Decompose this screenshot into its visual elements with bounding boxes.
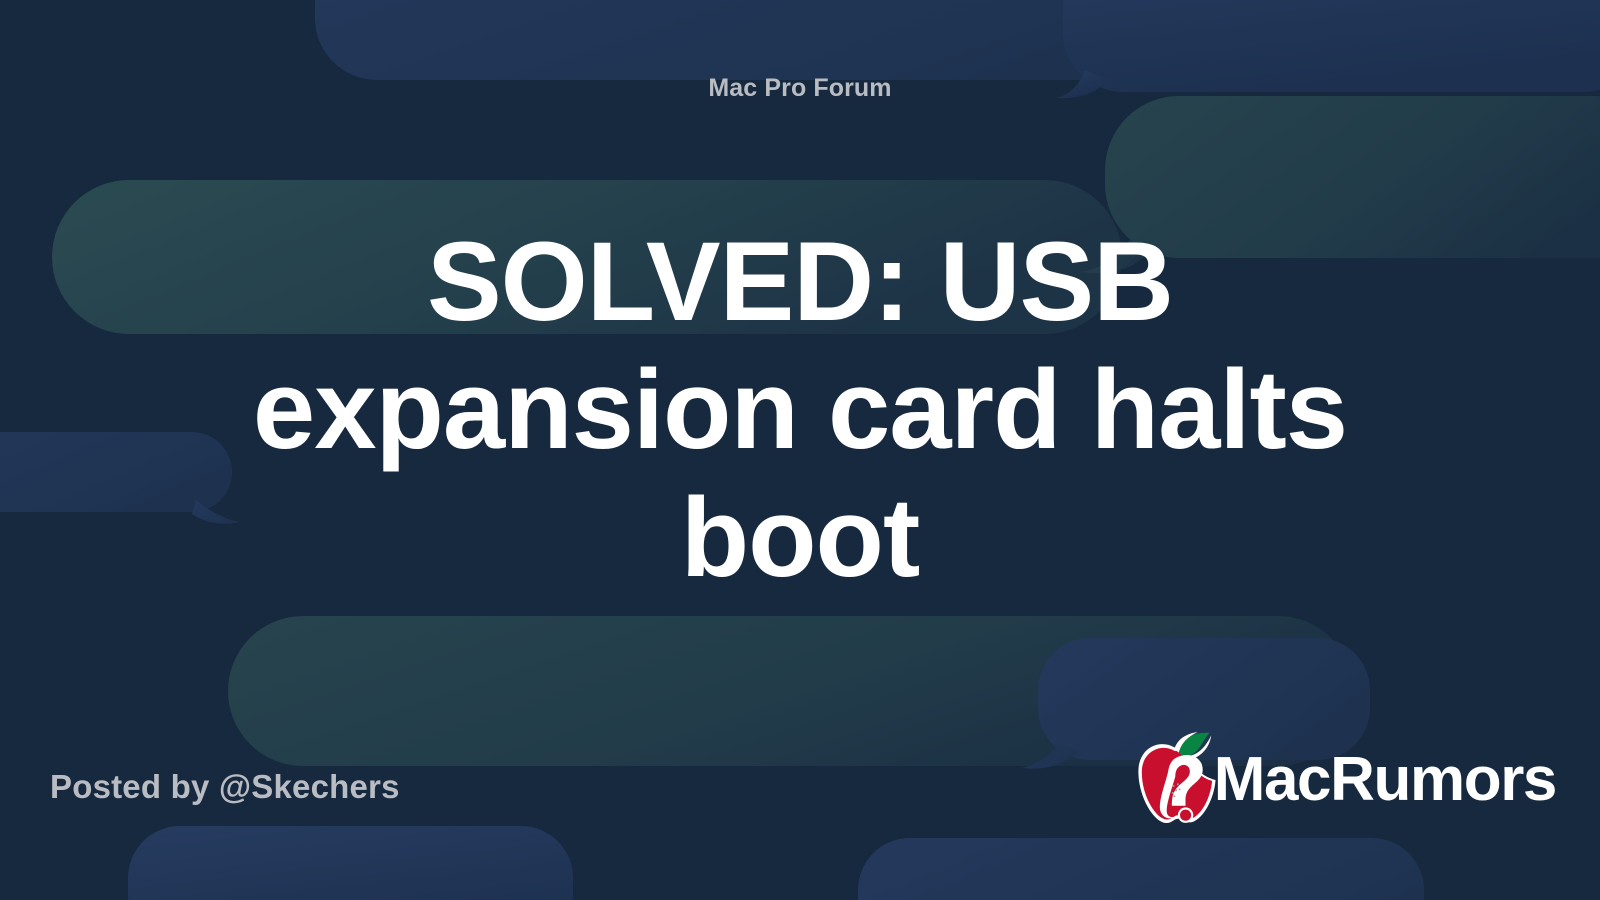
page-title: SOLVED: USB expansion card halts boot	[140, 218, 1460, 602]
forum-name: Mac Pro Forum	[0, 74, 1600, 103]
posted-by-label: Posted by @Skechers	[50, 768, 400, 806]
brand-wordmark: MacRumors	[1214, 749, 1556, 811]
macrumors-apple-question-mark-icon	[1134, 732, 1220, 828]
brand-lockup: MacRumors	[1134, 732, 1556, 828]
social-share-card: Mac Pro Forum SOLVED: USB expansion card…	[0, 0, 1600, 900]
